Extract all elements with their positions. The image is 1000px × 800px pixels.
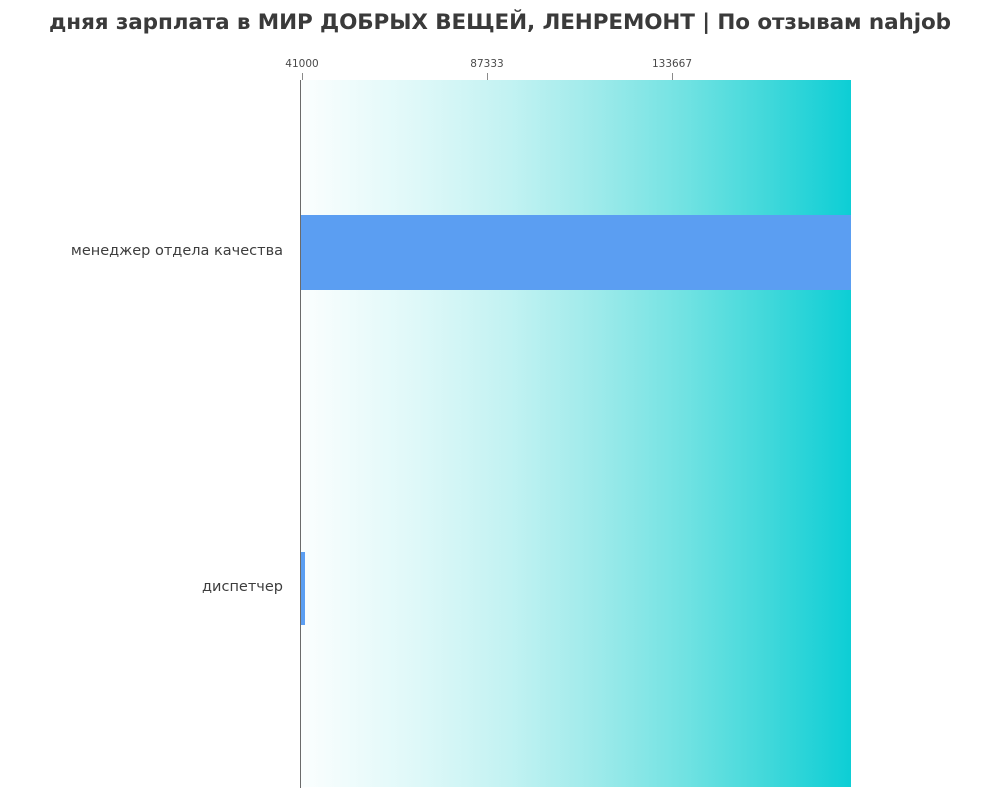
x-tick-label: 133667	[652, 58, 692, 70]
bar-1	[301, 552, 305, 625]
y-category-label-0: менеджер отдела качества	[0, 243, 292, 259]
chart-title: дняя зарплата в МИР ДОБРЫХ ВЕЩЕЙ, ЛЕНРЕМ…	[0, 0, 1000, 46]
x-tick-mark	[672, 73, 673, 80]
x-tick-label: 87333	[470, 58, 503, 70]
plot-area	[301, 80, 851, 787]
bar-0	[301, 215, 851, 290]
chart-title-text: дняя зарплата в МИР ДОБРЫХ ВЕЩЕЙ, ЛЕНРЕМ…	[49, 0, 951, 46]
x-tick-mark	[487, 73, 488, 80]
y-category-label-1: диспетчер	[0, 579, 292, 595]
x-tick-label: 41000	[285, 58, 318, 70]
y-axis-spine	[300, 80, 301, 788]
x-tick-mark	[302, 73, 303, 80]
